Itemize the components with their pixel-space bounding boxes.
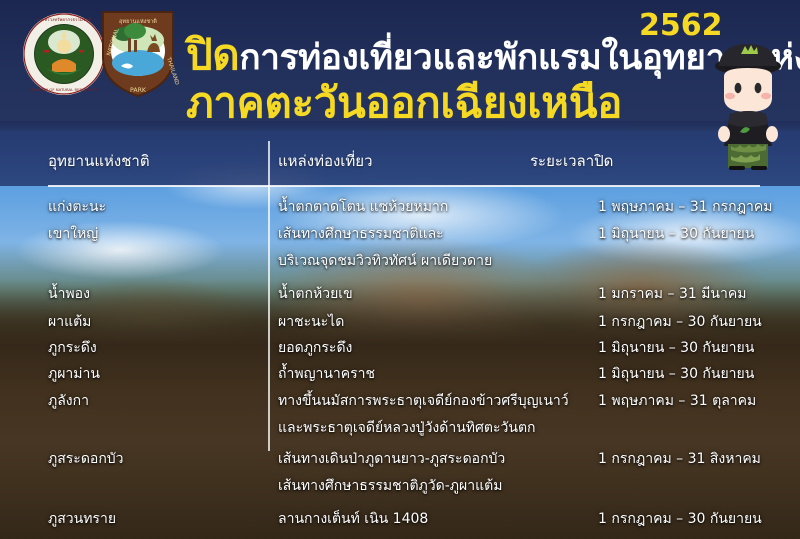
cell-park-name: ภูผาม่าน bbox=[48, 363, 100, 385]
table-row: ภูสวนทรายลานกางเต็นท์ เนิน 14081 กรกฎาคม… bbox=[48, 508, 760, 532]
table-row: น้ำพองน้ำตกห้วยเข1 มกราคม – 31 มีนาคม bbox=[48, 283, 760, 307]
cell-period: 1 กรกฎาคม – 30 กันยายน bbox=[598, 311, 762, 333]
table-row: ภูผาม่านถ้ำพญานาคราช1 มิถุนายน – 30 กันย… bbox=[48, 363, 760, 387]
column-header-park: อุทยานแห่งชาติ bbox=[48, 149, 150, 173]
cell-park-name: ภูสระดอกบัว bbox=[48, 448, 124, 470]
table-row: และพระธาตุเจดีย์หลวงปู่วังด้านทิศตะวันตก bbox=[48, 417, 760, 441]
table-row: เขาใหญ่เส้นทางศึกษาธรรมชาติและ1 มิถุนายน… bbox=[48, 223, 760, 247]
ministry-of-natural-resources-seal: กระทรวงทรัพยากรธรรมชาติ MINISTRY OF NATU… bbox=[22, 12, 106, 96]
column-header-period: ระยะเวลาปิด bbox=[530, 149, 613, 173]
cell-attraction: เส้นทางศึกษาธรรมชาติภูวัด-ภูผาแต้ม bbox=[278, 475, 502, 497]
cell-period: 1 กรกฎาคม – 30 กันยายน bbox=[598, 508, 762, 530]
table-row: ภูกระดึงยอดภูกระดึง1 มิถุนายน – 30 กันยา… bbox=[48, 337, 760, 361]
national-park-thailand-badge: อุทยานแห่งชาติ NATIONAL THAILAND PARK bbox=[97, 6, 179, 100]
cell-attraction: เส้นทางเดินป่าภูดานยาว-ภูสระดอกบัว bbox=[278, 448, 505, 470]
cell-park-name: เขาใหญ่ bbox=[48, 223, 98, 245]
poster-root: กระทรวงทรัพยากรธรรมชาติ MINISTRY OF NATU… bbox=[0, 0, 800, 539]
emblem-bottom-text: MINISTRY OF NATURAL RESOURCES bbox=[30, 87, 98, 92]
badge-thai-text: อุทยานแห่งชาติ bbox=[119, 18, 157, 25]
cell-park-name: น้ำพอง bbox=[48, 283, 90, 305]
cell-attraction: ถ้ำพญานาคราช bbox=[278, 363, 375, 385]
cell-period: 1 กรกฎาคม – 31 สิงหาคม bbox=[598, 448, 761, 470]
table-row: ภูลังกาทางขึ้นนมัสการพระธาตุเจดีย์กองข้า… bbox=[48, 390, 760, 414]
cell-period: 1 มกราคม – 31 มีนาคม bbox=[598, 283, 746, 305]
cell-attraction: เส้นทางศึกษาธรรมชาติและ bbox=[278, 223, 444, 245]
cell-park-name: แก่งตะนะ bbox=[48, 196, 106, 218]
cell-attraction: ผาชะนะได bbox=[278, 311, 344, 333]
cell-period: 1 มิถุนายน – 30 กันยายน bbox=[598, 337, 754, 359]
table-row: บริเวณจุดชมวิวทิวทัศน์ ผาเดียวดาย bbox=[48, 250, 760, 274]
table-header-row: อุทยานแห่งชาติ แหล่งท่องเที่ยว ระยะเวลาป… bbox=[48, 149, 760, 175]
table-row: ผาแต้มผาชะนะได1 กรกฎาคม – 30 กันยายน bbox=[48, 311, 760, 335]
column-header-attraction: แหล่งท่องเที่ยว bbox=[278, 149, 373, 173]
cell-attraction: น้ำตกห้วยเข bbox=[278, 283, 353, 305]
badge-park-text: PARK bbox=[130, 87, 147, 94]
table-row: เส้นทางศึกษาธรรมชาติภูวัด-ภูผาแต้ม bbox=[48, 475, 760, 499]
header-divider bbox=[48, 185, 760, 187]
cell-park-name: ภูสวนทราย bbox=[48, 508, 116, 530]
emblem-top-text: กระทรวงทรัพยากรธรรมชาติ bbox=[37, 17, 91, 23]
cell-attraction: น้ำตกตาดโตน แซห้วยหมาก bbox=[278, 196, 448, 218]
cell-park-name: ผาแต้ม bbox=[48, 311, 91, 333]
cell-period: 1 พฤษภาคม – 31 ตุลาคม bbox=[598, 390, 756, 412]
cell-park-name: ภูกระดึง bbox=[48, 337, 97, 359]
cell-period: 1 มิถุนายน – 30 กันยายน bbox=[598, 223, 754, 245]
table-row: ภูสระดอกบัวเส้นทางเดินป่าภูดานยาว-ภูสระด… bbox=[48, 448, 760, 472]
table-row: แก่งตะนะน้ำตกตาดโตน แซห้วยหมาก1 พฤษภาคม … bbox=[48, 196, 760, 220]
closure-table: อุทยานแห่งชาติ แหล่งท่องเที่ยว ระยะเวลาป… bbox=[0, 131, 800, 539]
cell-attraction: บริเวณจุดชมวิวทิวทัศน์ ผาเดียวดาย bbox=[278, 250, 492, 272]
cell-attraction: ลานกางเต็นท์ เนิน 1408 bbox=[278, 508, 428, 530]
cell-period: 1 มิถุนายน – 30 กันยายน bbox=[598, 363, 754, 385]
cell-attraction: ยอดภูกระดึง bbox=[278, 337, 352, 359]
poster-title-line2: ภาคตะวันออกเฉียงเหนือ bbox=[186, 70, 622, 136]
cell-attraction: ทางขึ้นนมัสการพระธาตุเจดีย์กองข้าวศรีบุญ… bbox=[278, 390, 569, 412]
cell-park-name: ภูลังกา bbox=[48, 390, 89, 412]
cell-attraction: และพระธาตุเจดีย์หลวงปู่วังด้านทิศตะวันตก bbox=[278, 417, 536, 439]
cell-period: 1 พฤษภาคม – 31 กรกฎาคม bbox=[598, 196, 772, 218]
